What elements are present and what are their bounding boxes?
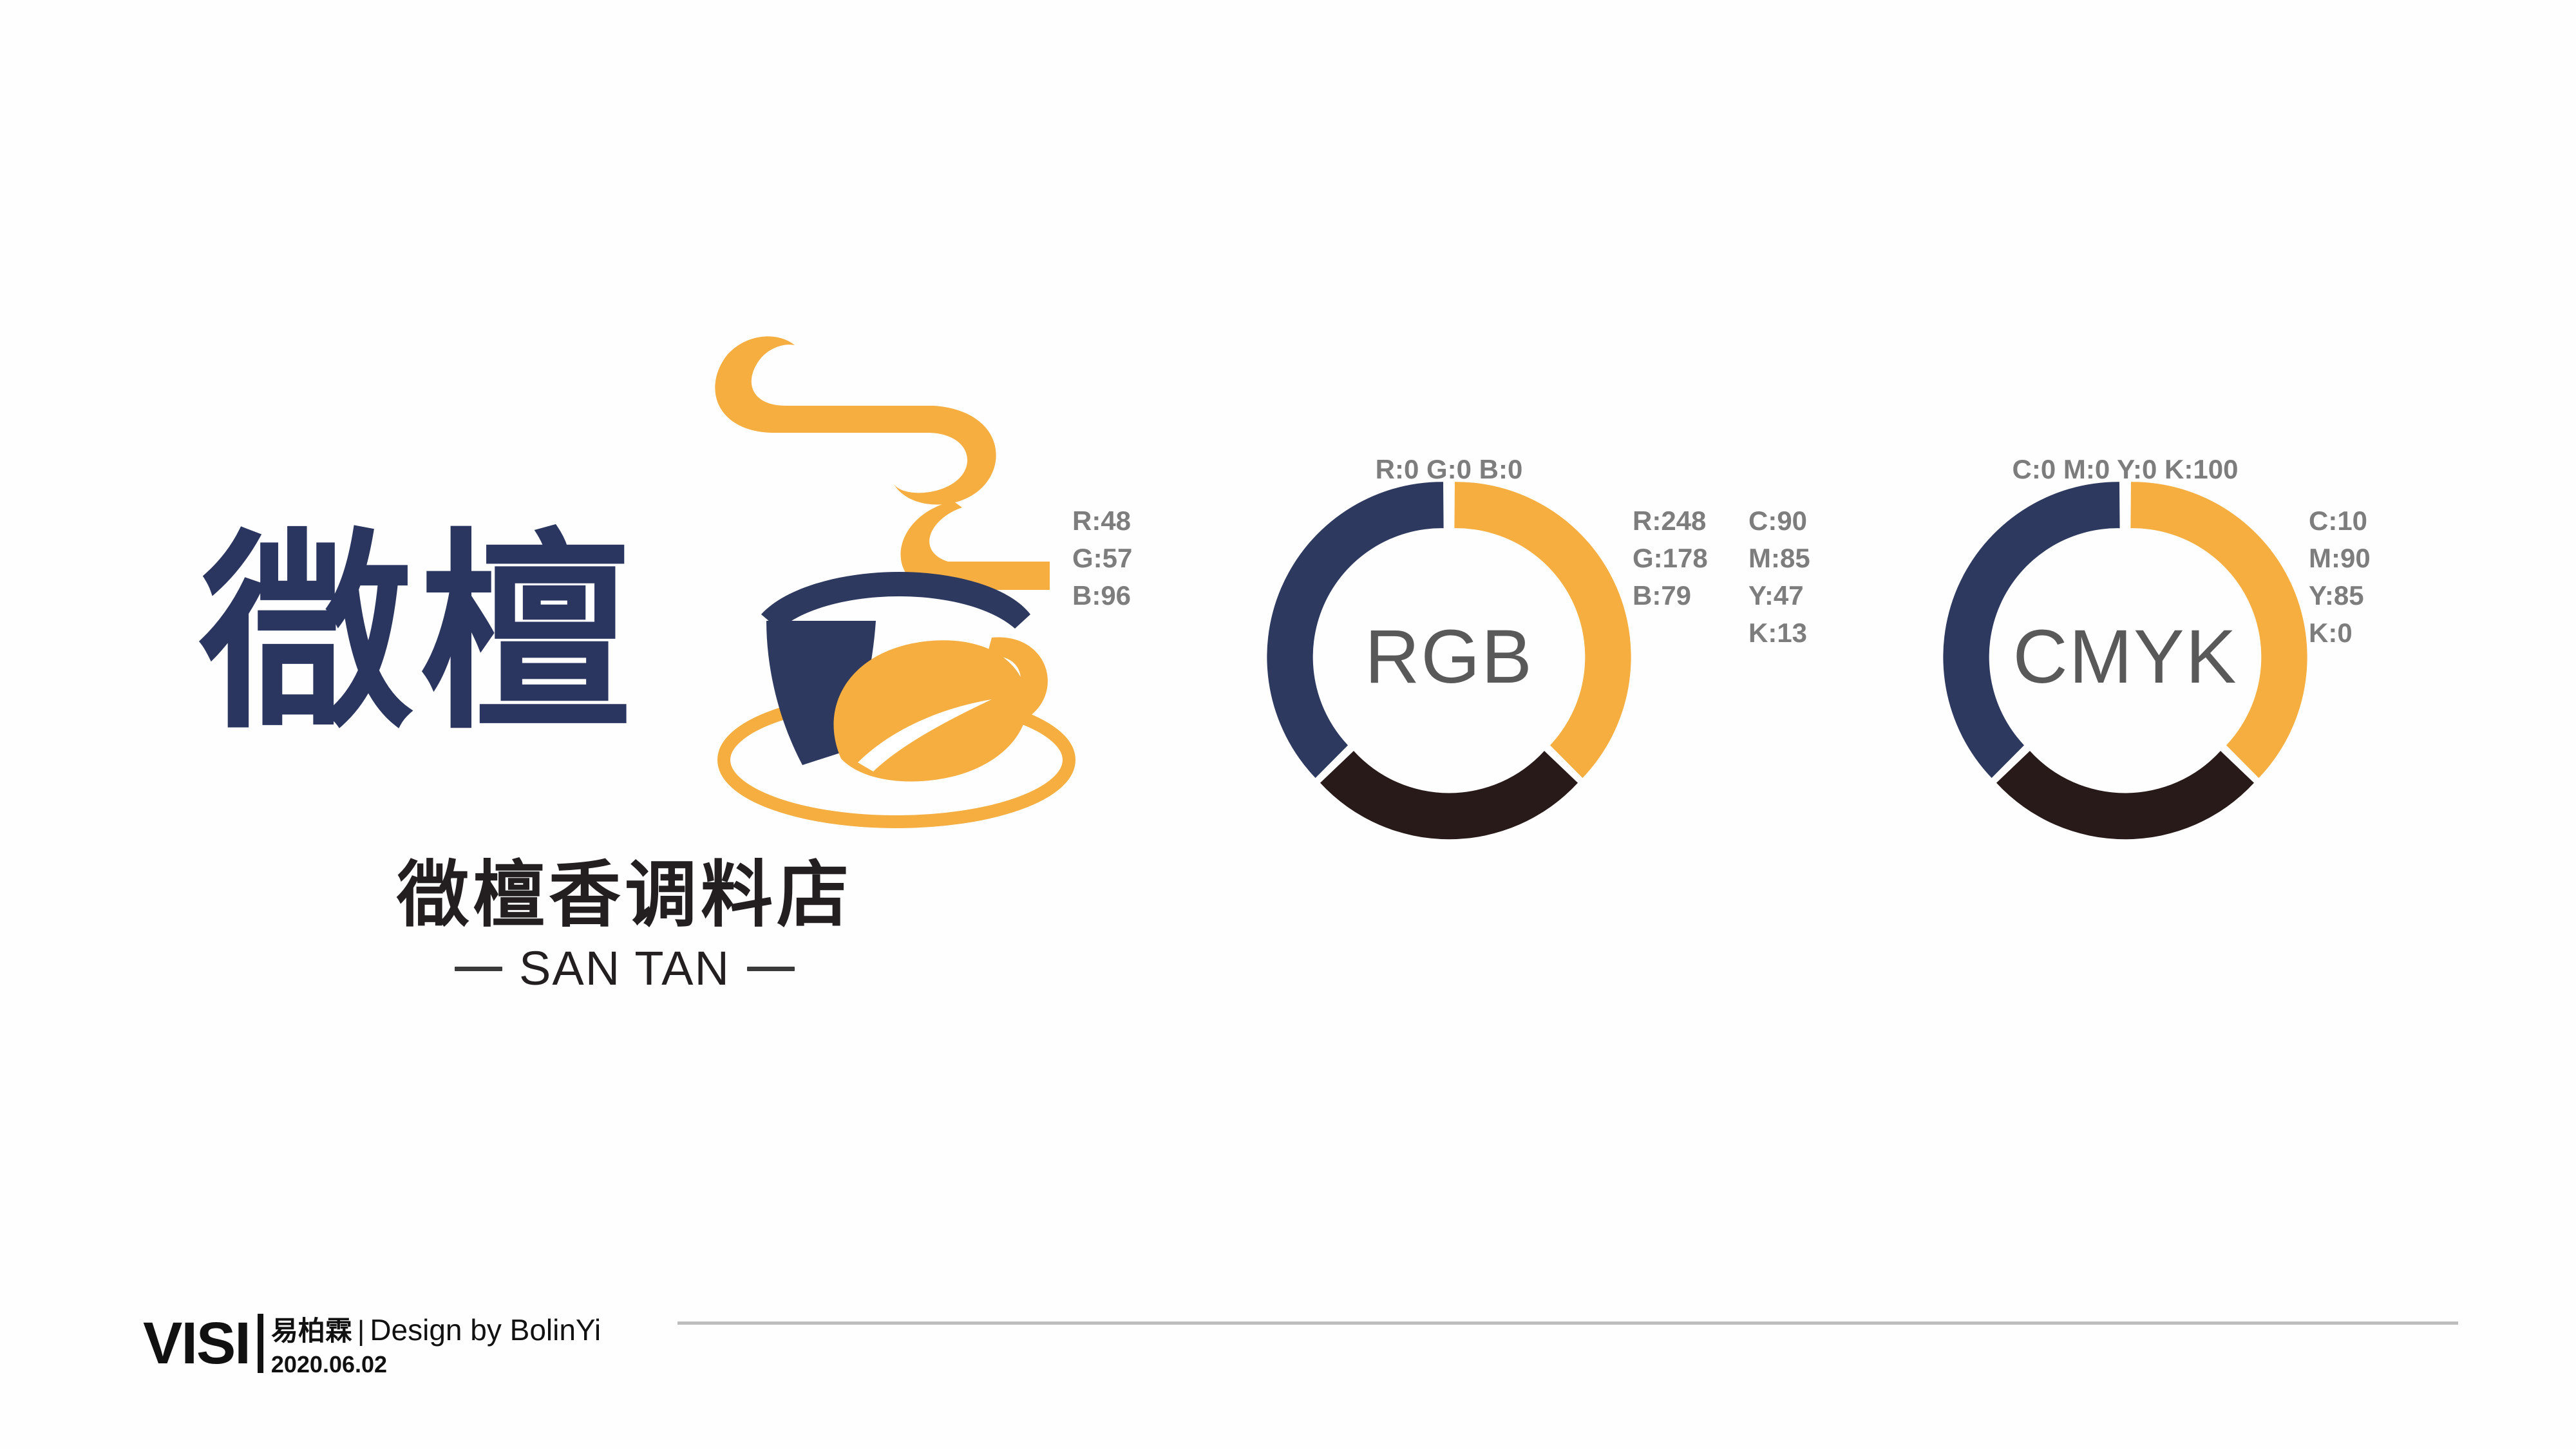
cmyk-orange-swatch-label: C:10 M:90 Y:85 K:0 (2309, 502, 2515, 652)
tagline-english: SAN TAN (519, 943, 730, 994)
footer-horizontal-rule (677, 1321, 2458, 1325)
logo-block: 㣲檀 㣲檀香调料店 SAN TAN (167, 335, 1082, 1030)
rgb-segment-navy (1267, 482, 1443, 778)
rgb-navy-swatch-label: R:48 G:57 B:96 (1072, 502, 1265, 614)
cmyk-navy-swatch-label: C:90 M:85 Y:47 K:13 (1748, 502, 1942, 652)
cmyk-segment-navy (1943, 482, 2119, 778)
rgb-segment-black (1320, 751, 1578, 839)
footer-separator: | (357, 1315, 365, 1347)
coffee-cup-with-leaf-and-steam-icon (689, 335, 1088, 844)
footer-credit-row: 易柏霖 | Design by BolinYi (271, 1314, 601, 1347)
tagline-rule-right (747, 967, 795, 971)
footer-row: VISI 易柏霖 | Design by BolinYi 2020.06.02 (143, 1314, 601, 1379)
cmyk-segment-black (1996, 751, 2254, 839)
tagline-chinese: 㣲檀香调料店 (167, 857, 1082, 934)
footer: VISI 易柏霖 | Design by BolinYi 2020.06.02 (143, 1314, 601, 1404)
rgb-segment-orange (1454, 482, 1631, 778)
cmyk-segment-orange (2130, 482, 2307, 778)
cmyk-color-donut-chart: C:90 M:85 Y:47 K:13 C:10 M:90 Y:85 K:0 C… (1797, 451, 2454, 1005)
wordmark-chinese: 㣲檀 (200, 528, 638, 741)
designer-name-chinese: 易柏霖 (271, 1315, 352, 1347)
tagline-english-row: SAN TAN (167, 943, 1082, 994)
visi-logotype: VISI (143, 1314, 250, 1373)
tagline-rule-left (455, 967, 502, 971)
rgb-donut-ring: RGB (1243, 451, 1655, 863)
footer-credit-stack: 易柏霖 | Design by BolinYi 2020.06.02 (271, 1314, 601, 1379)
cmyk-donut-ring: CMYK (1919, 451, 2331, 863)
footer-date: 2020.06.02 (271, 1350, 601, 1379)
rgb-color-donut-chart: R:48 G:57 B:96 R:248 G:178 B:79 RGB R:0 … (1121, 451, 1777, 1005)
logo-mark: 㣲檀 (167, 335, 1082, 844)
footer-divider-bar (258, 1314, 263, 1373)
design-credit: Design by BolinYi (370, 1314, 601, 1346)
